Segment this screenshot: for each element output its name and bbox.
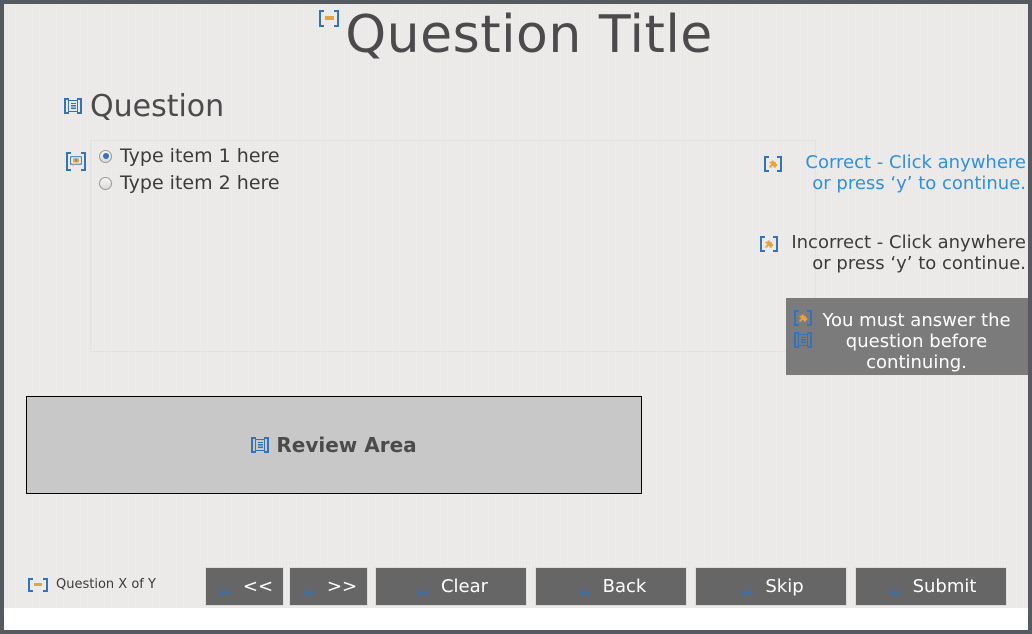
question-counter: Question X of Y	[28, 577, 156, 592]
answer-options-area[interactable]: Type item 1 here Type item 2 here	[90, 140, 816, 352]
message-box-icons	[794, 310, 812, 354]
must-answer-line3: continuing.	[866, 352, 967, 373]
button-placeholder-icon	[576, 579, 594, 595]
text-placeholder-icon	[64, 98, 82, 114]
text-placeholder-icon	[251, 437, 269, 453]
question-label: Question	[90, 92, 224, 122]
list-item[interactable]: Type item 2 here	[99, 172, 280, 194]
text-placeholder-icon	[794, 332, 812, 348]
button-placeholder-icon	[414, 579, 432, 595]
previous-button[interactable]: <<	[205, 567, 284, 606]
puzzle-piece-icon	[764, 156, 782, 172]
button-placeholder-icon	[886, 579, 904, 595]
skip-button-label: Skip	[765, 576, 803, 597]
back-button-label: Back	[603, 576, 647, 597]
submit-button-label: Submit	[913, 576, 977, 597]
button-placeholder-icon	[216, 579, 234, 595]
incorrect-feedback-line1: Incorrect - Click anywhere	[791, 232, 1026, 253]
svg-text:T: T	[74, 158, 77, 164]
option-2-label: Type item 2 here	[120, 172, 280, 194]
option-1-label: Type item 1 here	[120, 145, 280, 167]
must-answer-line2: question before	[846, 331, 987, 352]
slide-window: Question Title Question T	[0, 0, 1032, 634]
must-answer-message-box: You must answer the question before cont…	[786, 298, 1028, 375]
back-button[interactable]: Back	[535, 567, 687, 606]
next-button-label: >>	[327, 576, 357, 597]
question-label-row: Question	[64, 92, 224, 122]
review-area-label: Review Area	[276, 433, 416, 457]
correct-feedback: Correct - Click anywhere or press ‘y’ to…	[764, 152, 1026, 194]
radio-option-1[interactable]	[99, 150, 112, 163]
skip-button[interactable]: Skip	[695, 567, 847, 606]
radio-option-2[interactable]	[99, 177, 112, 190]
review-area[interactable]: Review Area	[26, 396, 642, 494]
must-answer-line1: You must answer the	[822, 310, 1010, 331]
puzzle-piece-icon	[760, 236, 778, 252]
incorrect-feedback-line2: or press ‘y’ to continue.	[812, 253, 1026, 274]
clear-button[interactable]: Clear	[375, 567, 527, 606]
next-button[interactable]: >>	[289, 567, 368, 606]
caption-placeholder-icon	[28, 578, 48, 592]
page-title: Question Title	[345, 5, 713, 65]
submit-button[interactable]: Submit	[855, 567, 1007, 606]
slide-title-row: Question Title	[4, 4, 1028, 78]
previous-button-label: <<	[243, 576, 273, 597]
button-placeholder-icon	[300, 579, 318, 595]
incorrect-feedback: Incorrect - Click anywhere or press ‘y’ …	[760, 232, 1026, 274]
list-item[interactable]: Type item 1 here	[99, 145, 280, 167]
correct-feedback-line2: or press ‘y’ to continue.	[812, 173, 1026, 194]
slide-canvas: Question Title Question T	[4, 4, 1028, 608]
puzzle-piece-icon	[794, 310, 812, 326]
question-counter-text: Question X of Y	[56, 577, 156, 592]
button-placeholder-icon	[738, 579, 756, 595]
caption-placeholder-icon	[319, 10, 339, 27]
correct-feedback-line1: Correct - Click anywhere	[805, 152, 1026, 173]
bottom-white-strip	[4, 608, 1028, 630]
text-entry-callout-icon: T	[66, 152, 86, 171]
clear-button-label: Clear	[441, 576, 488, 597]
